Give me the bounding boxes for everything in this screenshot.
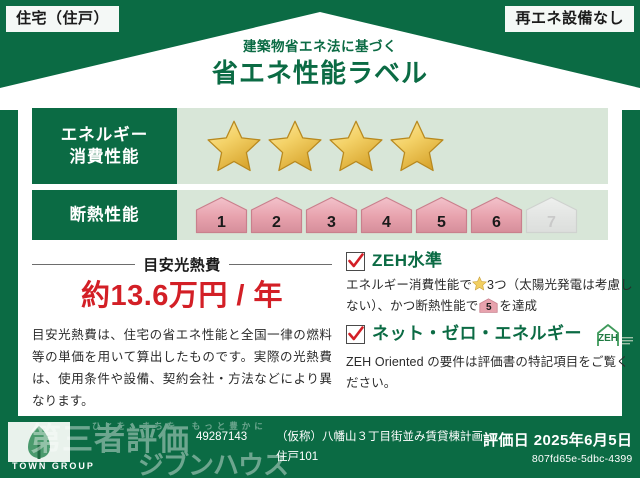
footer-row-project: 49287143 （仮称）八幡山３丁目街並み賃貸棟計画 xyxy=(196,427,483,447)
energy-label-root: 住宅（住戸） 再エネ設備なし 建築物省エネ法に基づく 省エネ性能ラベル エネルギ… xyxy=(0,0,640,478)
claim-zeh-standard-head: ZEH水準 xyxy=(346,252,637,271)
energy-performance-label: エネルギー 消費性能 xyxy=(32,108,177,184)
label-title: 建築物省エネ法に基づく 省エネ性能ラベル xyxy=(0,40,640,89)
title-main: 省エネ性能ラベル xyxy=(0,57,640,90)
rule-right xyxy=(229,264,332,265)
footer-date-value: 2025年6月5日 xyxy=(534,432,633,449)
footer-row-unit: 住戸101 xyxy=(196,447,483,467)
footer-uuid: 807fd65e-5dbc-4399 xyxy=(483,453,632,465)
rule-left xyxy=(32,264,135,265)
label-card: エネルギー 消費性能 断熱性能 1234567 目安光熱費 約13.6万 xyxy=(18,96,622,416)
insulation-level-4: 4 xyxy=(360,196,413,234)
claim-net-zero-head: ネット・ゼロ・エネルギー ZEH xyxy=(346,322,637,348)
footer-number-spacer xyxy=(196,447,262,467)
star-rating xyxy=(205,118,446,174)
town-group-wordmark: TOWN GROUP xyxy=(12,461,95,471)
badge-renewable-equipment: 再エネ設備なし xyxy=(505,6,634,32)
claim-zeh-standard-body: エネルギー消費性能で 3つ（太陽光発電は考慮しない）、かつ断熱性能で 5 を達成 xyxy=(346,275,637,318)
star-icon xyxy=(205,118,263,174)
footer-number: 49287143 xyxy=(196,427,262,447)
insulation-level-7: 7 xyxy=(525,196,578,234)
insulation-level-number: 1 xyxy=(195,215,248,231)
claim-zeh-body-part3: を達成 xyxy=(499,299,537,313)
label-lower-section: 目安光熱費 約13.6万円 / 年 目安光熱費は、住宅の省エネ性能と全国一律の燃… xyxy=(32,250,608,412)
town-group-logo: TOWN GROUP xyxy=(8,422,188,472)
inline-star-icon xyxy=(472,276,487,291)
checkbox-checked-icon xyxy=(346,252,365,271)
claim-zeh-standard: ZEH水準 エネルギー消費性能で 3つ（太陽光発電は考慮しない）、かつ断熱性能で… xyxy=(346,252,637,318)
insulation-level-number: 2 xyxy=(250,215,303,231)
insulation-level-2: 2 xyxy=(250,196,303,234)
insulation-level-number: 7 xyxy=(525,215,578,231)
insulation-level-number: 3 xyxy=(305,215,358,231)
utility-cost-heading: 目安光熱費 xyxy=(32,254,332,275)
star-icon xyxy=(266,118,324,174)
insulation-performance-value: 1234567 xyxy=(177,190,608,240)
inline-level-chip: 5 xyxy=(479,298,498,313)
claim-net-zero-body: ZEH Oriented の要件は評価書の特記項目をご覧ください。 xyxy=(346,352,637,395)
footer-evaluation-date: 評価日 2025年6月5日 xyxy=(483,429,632,450)
insulation-level-3: 3 xyxy=(305,196,358,234)
checkbox-checked-icon xyxy=(346,325,365,344)
claim-net-zero-energy: ネット・ゼロ・エネルギー ZEH ZEH Oriented の要件は評価書の特 xyxy=(346,322,637,395)
insulation-level-1: 1 xyxy=(195,196,248,234)
energy-label-line2: 消費性能 xyxy=(70,146,140,168)
footer-evaluation-date-block: 評価日 2025年6月5日 807fd65e-5dbc-4399 xyxy=(483,429,636,465)
claims-column: ZEH水準 エネルギー消費性能で 3つ（太陽光発電は考慮しない）、かつ断熱性能で… xyxy=(346,250,637,412)
utility-cost-column: 目安光熱費 約13.6万円 / 年 目安光熱費は、住宅の省エネ性能と全国一律の燃… xyxy=(32,250,332,412)
zeh-house-logo-icon: ZEH xyxy=(591,322,637,348)
footer-unit: 住戸101 xyxy=(276,447,318,467)
utility-cost-note: 目安光熱費は、住宅の省エネ性能と全国一律の燃料等の単価を用いて算出したものです。… xyxy=(32,325,332,413)
title-subtitle: 建築物省エネ法に基づく xyxy=(0,40,640,55)
insulation-level-5: 5 xyxy=(415,196,468,234)
insulation-performance-row: 断熱性能 1234567 xyxy=(32,190,608,240)
badge-dwelling-type: 住宅（住戸） xyxy=(6,6,119,32)
energy-performance-value xyxy=(177,108,608,184)
claim-net-zero-title: ネット・ゼロ・エネルギー xyxy=(372,325,582,344)
claim-zeh-body-part1: エネルギー消費性能で xyxy=(346,278,472,292)
energy-performance-row: エネルギー 消費性能 xyxy=(32,108,608,184)
star-icon xyxy=(388,118,446,174)
insulation-level-number: 4 xyxy=(360,215,413,231)
claim-zeh-standard-title: ZEH水準 xyxy=(372,252,443,271)
insulation-level-6: 6 xyxy=(470,196,523,234)
insulation-level-number: 5 xyxy=(415,215,468,231)
footer-date-label: 評価日 xyxy=(483,432,529,449)
inline-level-chip-number: 5 xyxy=(479,303,498,313)
footer-project-name: （仮称）八幡山３丁目街並み賃貸棟計画 xyxy=(276,427,483,447)
utility-cost-heading-text: 目安光熱費 xyxy=(143,254,221,275)
energy-label-line1: エネルギー xyxy=(61,124,149,146)
insulation-level-scale: 1234567 xyxy=(195,196,578,234)
svg-text:ZEH: ZEH xyxy=(598,333,618,344)
utility-cost-value: 約13.6万円 / 年 xyxy=(32,281,332,313)
star-icon xyxy=(327,118,385,174)
insulation-level-number: 6 xyxy=(470,215,523,231)
insulation-performance-label: 断熱性能 xyxy=(32,190,177,240)
footer-identifiers: 49287143 （仮称）八幡山３丁目街並み賃貸棟計画 住戸101 xyxy=(196,427,483,467)
